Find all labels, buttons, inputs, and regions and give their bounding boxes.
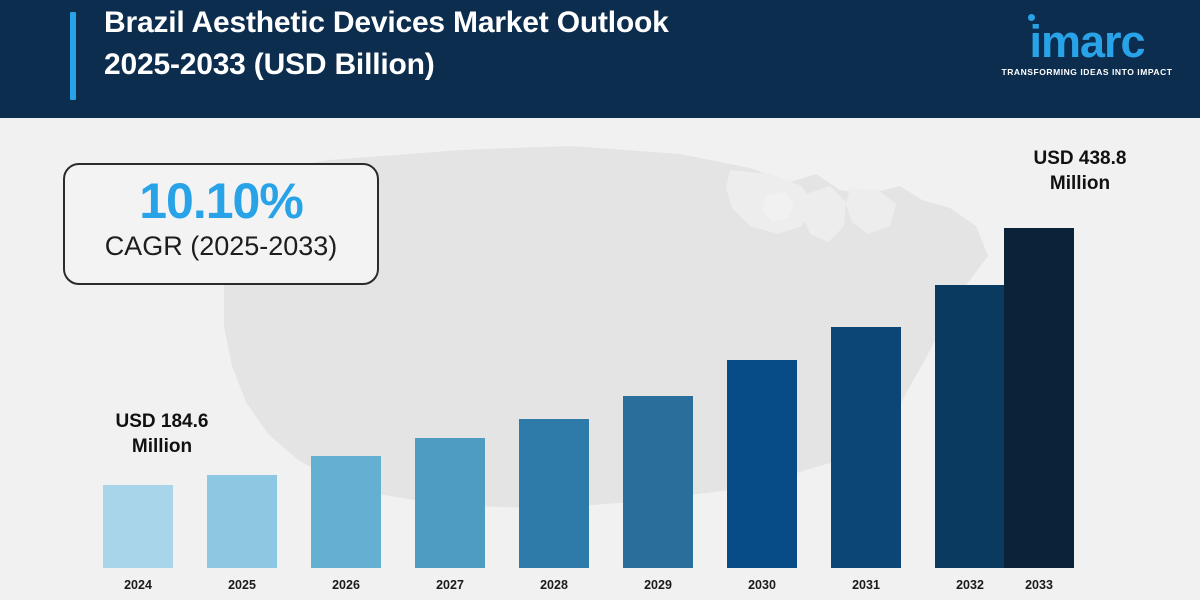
- bar-2026: [311, 456, 381, 568]
- bar-chart: 2024202520262027202820292030203120322033: [0, 0, 1200, 600]
- bar-2024: [103, 485, 173, 568]
- bar-label-2033: 2033: [1004, 578, 1074, 592]
- bar-label-2025: 2025: [207, 578, 277, 592]
- bar-label-2030: 2030: [727, 578, 797, 592]
- infographic-page: Brazil Aesthetic Devices Market Outlook …: [0, 0, 1200, 600]
- bar-label-2027: 2027: [415, 578, 485, 592]
- bar-label-2024: 2024: [103, 578, 173, 592]
- bar-2029: [623, 396, 693, 568]
- bar-2033: [1004, 228, 1074, 568]
- bar-2032: [935, 285, 1005, 568]
- bar-2030: [727, 360, 797, 568]
- bar-label-2029: 2029: [623, 578, 693, 592]
- bar-2028: [519, 419, 589, 568]
- bar-2027: [415, 438, 485, 568]
- bar-label-2028: 2028: [519, 578, 589, 592]
- bar-2031: [831, 327, 901, 568]
- bar-label-2031: 2031: [831, 578, 901, 592]
- bar-label-2026: 2026: [311, 578, 381, 592]
- bar-2025: [207, 475, 277, 568]
- bar-label-2032: 2032: [935, 578, 1005, 592]
